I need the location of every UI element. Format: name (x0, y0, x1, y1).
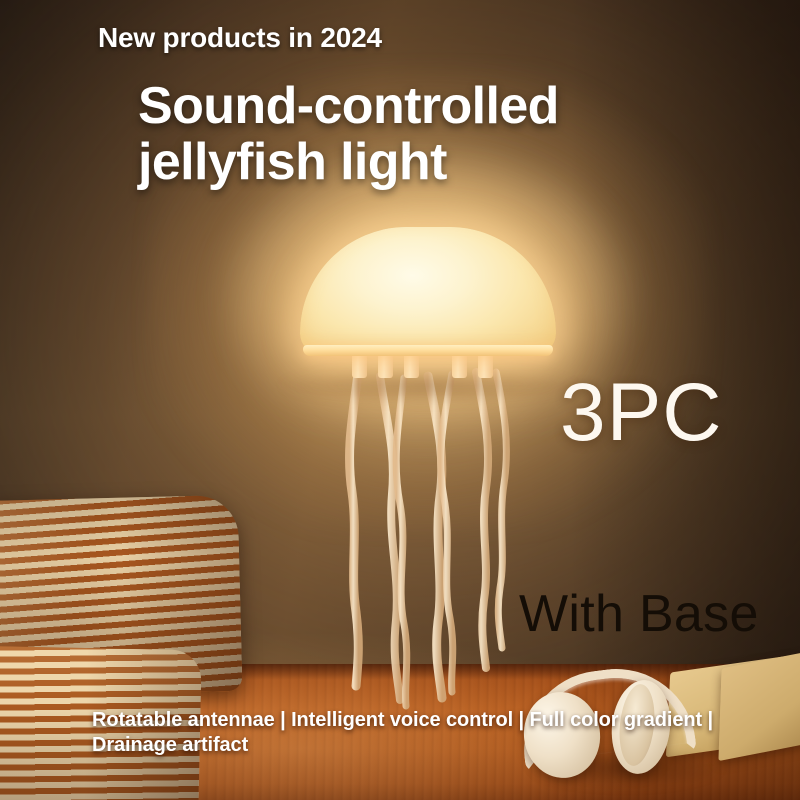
jellyfish-tentacle (350, 374, 359, 686)
jellyfish-tentacle (476, 372, 488, 668)
with-base-note: With Base (519, 586, 759, 642)
lamp-dome-rim (303, 345, 553, 356)
jellyfish-tentacle (428, 376, 442, 698)
feature-list-caption: Rotatable antennae | Intelligent voice c… (92, 708, 744, 758)
page-title: Sound-controlled jellyfish light (138, 78, 559, 190)
promo-eyebrow: New products in 2024 (98, 22, 382, 54)
dome-cast-shadow (278, 366, 578, 404)
jellyfish-tentacle (496, 372, 506, 648)
quantity-badge: 3PC (560, 372, 723, 454)
promo-scene: New products in 2024 Sound-controlled je… (0, 0, 800, 800)
